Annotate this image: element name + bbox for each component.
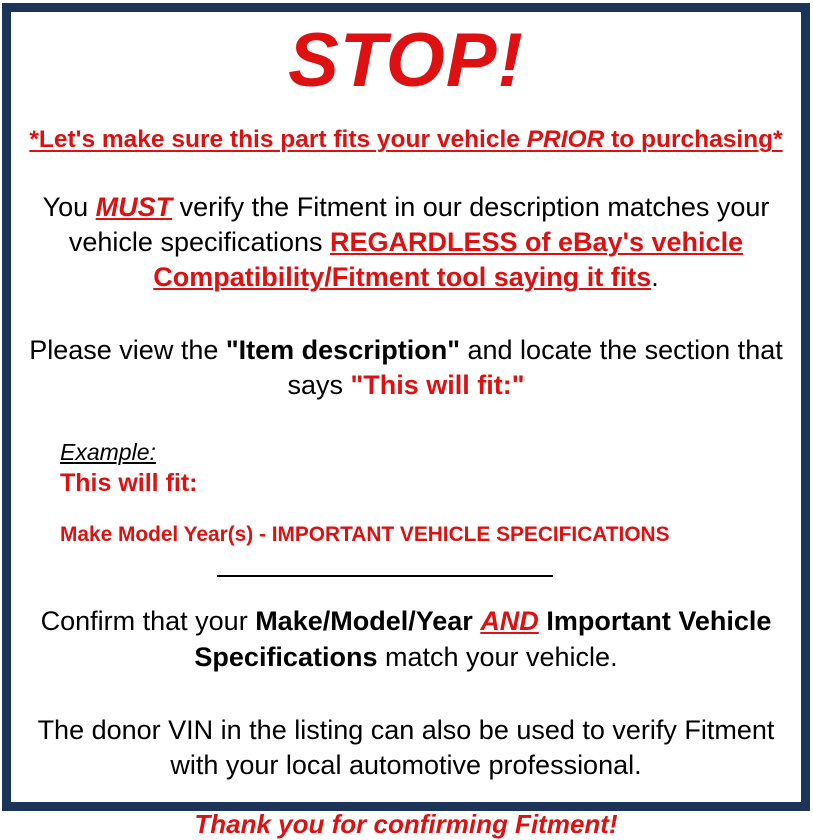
item-description-emphasis: "Item description"	[226, 335, 460, 365]
and-emphasis: AND	[480, 606, 539, 636]
must-part1: You	[43, 192, 96, 222]
example-fit-line: This will fit:	[60, 466, 794, 498]
example-spec-line: Make Model Year(s) - IMPORTANT VEHICLE S…	[60, 498, 772, 547]
must-part3: .	[651, 262, 659, 292]
paragraph-view-description: Please view the "Item description" and l…	[18, 295, 794, 403]
fitment-notice-frame: STOP! *Let's make sure this part fits yo…	[0, 0, 813, 814]
example-block: Example: This will fit: Make Model Year(…	[18, 403, 794, 547]
notice-body: STOP! *Let's make sure this part fits yo…	[11, 12, 801, 802]
example-label: Example:	[60, 439, 156, 466]
divider-wrap	[18, 547, 794, 577]
paragraph-must-verify: You MUST verify the Fitment in our descr…	[18, 154, 794, 295]
paragraph-donor-vin: The donor VIN in the listing can also be…	[18, 675, 794, 783]
confirm-part1: Confirm that your	[41, 606, 256, 636]
subtitle-part2: to purchasing*	[604, 126, 782, 153]
stop-title: STOP!	[18, 12, 794, 99]
subtitle-line: *Let's make sure this part fits your veh…	[18, 99, 794, 154]
view-part1: Please view the	[29, 335, 226, 365]
confirm-part2: match your vehicle.	[377, 642, 617, 672]
must-emphasis: MUST	[96, 192, 173, 222]
paragraph-confirm: Confirm that your Make/Model/Year AND Im…	[18, 577, 794, 674]
example-label-row: Example:	[60, 439, 794, 466]
horizontal-divider	[217, 575, 553, 577]
subtitle-part1: *Let's make sure this part fits your veh…	[29, 126, 526, 153]
closing-thank-you: Thank you for confirming Fitment!	[18, 783, 794, 840]
make-model-year-emphasis: Make/Model/Year	[255, 606, 473, 636]
subtitle-prior-emphasis: PRIOR	[527, 126, 605, 153]
notice-border: STOP! *Let's make sure this part fits yo…	[2, 3, 810, 811]
this-will-fit-emphasis: "This will fit:"	[350, 370, 524, 400]
